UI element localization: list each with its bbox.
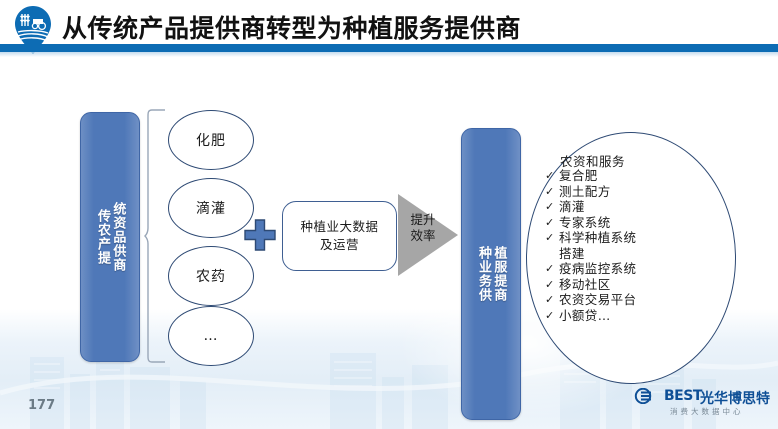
list-item-label: 复合肥 — [559, 168, 598, 184]
left-box-column-left: 传农产提 — [95, 209, 110, 265]
list-item: ✓ 移动社区 — [545, 277, 720, 293]
list-item: ✓ 测土配方 — [545, 184, 720, 200]
header-accent-bar — [0, 44, 778, 52]
product-ellipse-1: 化肥 — [168, 110, 254, 170]
list-item-label: 滴灌 — [559, 199, 585, 215]
list-item-label: 搭建 — [559, 246, 585, 262]
right-box-column-left: 种业务供 — [476, 246, 491, 302]
product-label-2: 滴灌 — [196, 198, 226, 218]
slide-header: 从传统产品提供商转型为种植服务提供商 — [0, 0, 778, 56]
left-box-column-right: 统资品供商 — [110, 202, 125, 272]
left-provider-box-text: 传农产提 统资品供商 — [81, 113, 139, 361]
check-icon: ✓ — [545, 215, 559, 231]
brand-subtitle: 消费大数据中心 — [670, 406, 744, 417]
right-service-box: 种业务供 植服提商 — [461, 128, 521, 420]
list-item: ✓ 科学种植系统 — [545, 230, 720, 246]
product-ellipse-4: … — [168, 306, 254, 366]
list-item: ✓ 农资交易平台 — [545, 292, 720, 308]
brand-name-cn: 光华博思特 — [700, 388, 770, 408]
services-list: ✓ 复合肥 ✓ 测土配方 ✓ 滴灌 ✓ 专家系统 ✓ 科学种植系统 搭建 — [545, 168, 720, 323]
plus-icon — [243, 218, 277, 252]
list-item-label: 疫病监控系统 — [559, 261, 636, 277]
big-data-box: 种植业大数据 及运营 — [282, 201, 397, 271]
brand-mark: BEST — [664, 388, 702, 404]
right-box-column-right: 植服提商 — [491, 246, 506, 302]
big-data-line-2: 及运营 — [300, 236, 378, 254]
left-brace-icon — [144, 108, 166, 364]
check-icon: ✓ — [545, 230, 559, 246]
slide: 从传统产品提供商转型为种植服务提供商 传农产提 统资品供商 化肥 滴灌 农药 … — [0, 0, 778, 429]
efficiency-arrow-label: 提升 效率 — [406, 212, 440, 245]
list-item: ✓ 复合肥 — [545, 168, 720, 184]
check-icon: ✓ — [545, 261, 559, 277]
list-item: ✓ 疫病监控系统 — [545, 261, 720, 277]
product-label-1: 化肥 — [196, 130, 226, 150]
list-item: ✓ 滴灌 — [545, 199, 720, 215]
check-icon: ✓ — [545, 277, 559, 293]
list-item-label: 农资交易平台 — [559, 292, 636, 308]
big-data-line-1: 种植业大数据 — [300, 218, 378, 236]
product-ellipse-3: 农药 — [168, 246, 254, 306]
page-number: 177 — [28, 398, 55, 413]
check-icon: ✓ — [545, 168, 559, 184]
list-item-label: 测土配方 — [559, 184, 611, 200]
list-item: ✓ 专家系统 — [545, 215, 720, 231]
page-title: 从传统产品提供商转型为种植服务提供商 — [62, 9, 521, 45]
check-icon: ✓ — [545, 184, 559, 200]
best-logo-icon — [634, 388, 662, 404]
footer-brand-logo: BEST 光华博思特 消费大数据中心 — [634, 388, 766, 420]
list-item-label: 专家系统 — [559, 215, 611, 231]
list-item: 搭建 — [545, 246, 720, 262]
list-item-label: 小额贷… — [559, 308, 611, 324]
check-icon: ✓ — [545, 292, 559, 308]
big-data-box-text: 种植业大数据 及运营 — [300, 218, 378, 254]
left-provider-box: 传农产提 统资品供商 — [80, 112, 140, 362]
list-item-label: 移动社区 — [559, 277, 611, 293]
diagram-canvas: 传农产提 统资品供商 化肥 滴灌 农药 … 种植业大数据 及 — [0, 56, 778, 429]
right-service-box-text: 种业务供 植服提商 — [462, 129, 520, 419]
product-ellipse-2: 滴灌 — [168, 178, 254, 238]
check-icon: ✓ — [545, 308, 559, 324]
list-item-label: 科学种植系统 — [559, 230, 636, 246]
arrow-line-1: 提升 — [406, 212, 440, 228]
arrow-line-2: 效率 — [406, 228, 440, 244]
product-label-4: … — [204, 328, 219, 344]
check-icon: ✓ — [545, 199, 559, 215]
product-label-3: 农药 — [196, 266, 226, 286]
list-item: ✓ 小额贷… — [545, 308, 720, 324]
